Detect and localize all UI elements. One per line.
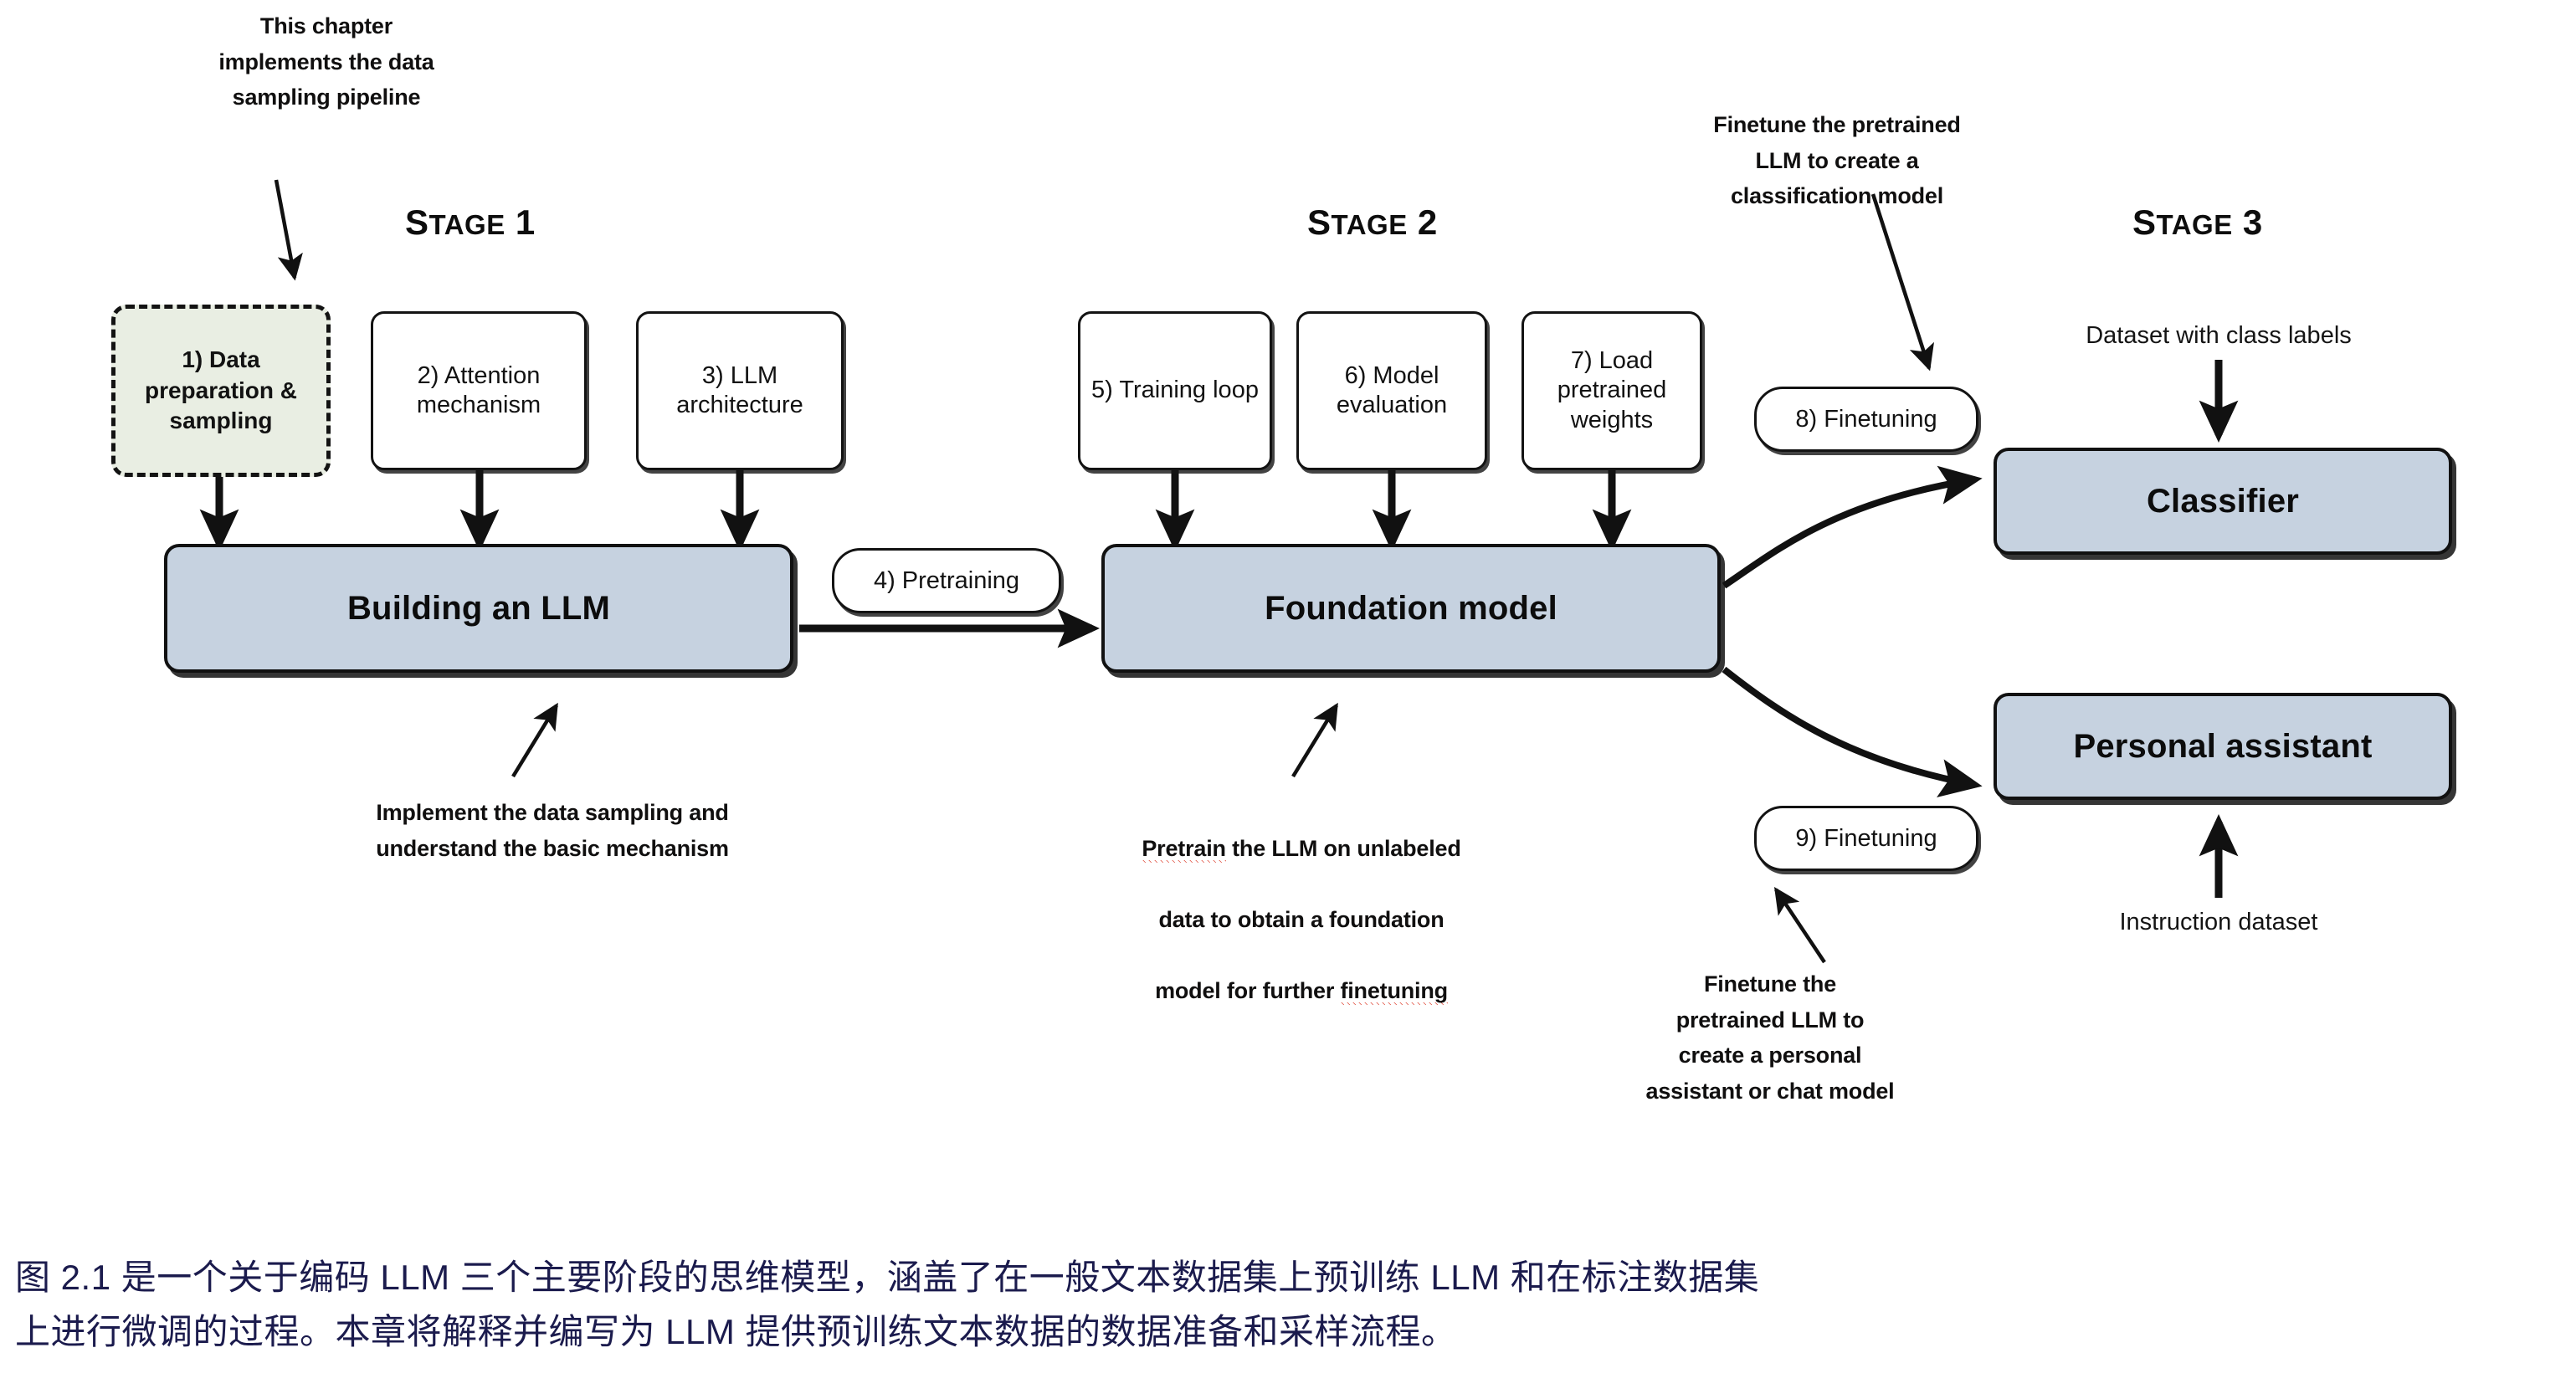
stage-header-1: STAGE 1 (405, 202, 536, 243)
arrow-annot-to-foundation (1293, 705, 1337, 776)
figure-caption: 图 2.1 是一个关于编码 LLM 三个主要阶段的思维模型，涵盖了在一般文本数据… (15, 1250, 2563, 1359)
stage-1-rest: TAGE (429, 209, 505, 240)
caption-line-2: 上进行微调的过程。本章将解释并编写为 LLM 提供预训练文本数据的数据准备和采样… (15, 1304, 2563, 1359)
annotation-finetune-assistant: Finetune the pretrained LLM to create a … (1586, 966, 1954, 1109)
node-box-training-loop[interactable]: 5) Training loop (1078, 311, 1272, 470)
arrow-foundation-to-assistant (1724, 669, 1975, 785)
big-box-classifier[interactable]: Classifier (1994, 448, 2452, 555)
annotation-this-chapter: This chapter implements the data samplin… (197, 8, 456, 115)
stage-3-rest: TAGE (2157, 209, 2233, 240)
node-box-attention-mechanism[interactable]: 2) Attention mechanism (371, 311, 587, 470)
annotation-pretrain-line-1: Pretrain the LLM on unlabeled (1067, 831, 1536, 867)
annotation-pretrain-line-3: model for further finetuning (1067, 973, 1536, 1009)
misspelled-word-finetuning: finetuning (1340, 978, 1447, 1005)
pill-finetuning-9[interactable]: 9) Finetuning (1754, 806, 1978, 871)
arrow-annot-to-pill9 (1776, 889, 1824, 962)
label-dataset-with-class-labels: Dataset with class labels (2009, 322, 2428, 350)
stage-header-3: STAGE 3 (2132, 202, 2263, 243)
stage-2-rest: TAGE (1332, 209, 1408, 240)
stage-1-prefix: S (405, 202, 429, 242)
misspelled-word-pretrain: Pretrain (1142, 836, 1225, 863)
stage-3-space (2233, 202, 2243, 242)
annotation-implement-data-sampling: Implement the data sampling and understa… (276, 795, 829, 866)
big-box-foundation-model[interactable]: Foundation model (1101, 544, 1721, 673)
annotation-finetune-classification: Finetune the pretrained LLM to create a … (1653, 107, 2021, 214)
node-box-llm-architecture[interactable]: 3) LLM architecture (636, 311, 844, 470)
annotation-pretrain-line-2: data to obtain a foundation (1067, 902, 1536, 938)
label-instruction-dataset: Instruction dataset (2009, 909, 2428, 936)
arrow-chapter-to-node1 (276, 180, 295, 278)
pill-pretraining[interactable]: 4) Pretraining (832, 548, 1061, 613)
stage-2-num: 2 (1418, 202, 1438, 242)
stage-2-prefix: S (1307, 202, 1332, 242)
stage-3-prefix: S (2132, 202, 2157, 242)
node-box-model-evaluation[interactable]: 6) Model evaluation (1296, 311, 1487, 470)
stage-1-num: 1 (516, 202, 536, 242)
node-box-data-preparation[interactable]: 1) Data preparation & sampling (111, 305, 331, 477)
annotation-pretrain-line1-rest: the LLM on unlabeled (1226, 836, 1461, 861)
diagram-page: This chapter implements the data samplin… (0, 0, 2576, 1399)
arrow-annot-to-pill8 (1873, 194, 1929, 368)
arrow-annot-to-llm (513, 705, 557, 776)
node-box-load-pretrained-weights[interactable]: 7) Load pretrained weights (1521, 311, 1702, 470)
pill-finetuning-8[interactable]: 8) Finetuning (1754, 387, 1978, 452)
arrow-foundation-to-classifier (1724, 479, 1975, 586)
stage-1-number (505, 202, 516, 242)
big-box-personal-assistant[interactable]: Personal assistant (1994, 693, 2452, 800)
caption-line-1: 图 2.1 是一个关于编码 LLM 三个主要阶段的思维模型，涵盖了在一般文本数据… (15, 1250, 2563, 1304)
stage-header-2: STAGE 2 (1307, 202, 1438, 243)
stage-2-space (1408, 202, 1418, 242)
annotation-pretrain-line3-head: model for further (1155, 978, 1340, 1003)
annotation-pretrain-foundation: Pretrain the LLM on unlabeled data to ob… (1067, 795, 1536, 1045)
big-box-building-an-llm[interactable]: Building an LLM (164, 544, 793, 673)
stage-3-num: 3 (2243, 202, 2263, 242)
